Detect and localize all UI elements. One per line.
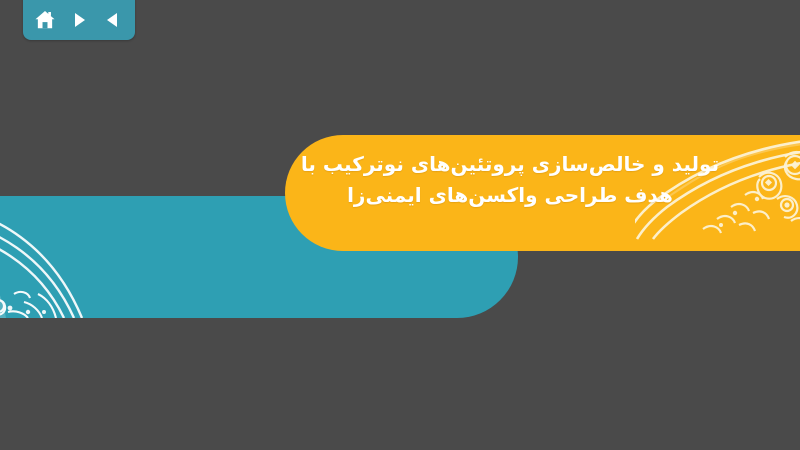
back-button[interactable]: [100, 7, 126, 33]
home-button[interactable]: [32, 7, 58, 33]
forward-button[interactable]: [66, 7, 92, 33]
title-line-2: هدف طراحی واکسن‌های ایمنی‌زا: [285, 180, 760, 211]
forward-icon: [69, 10, 89, 30]
yellow-banner: تولید و خالص‌سازی پروتئین‌های نوترکیب با…: [285, 135, 800, 251]
navigation-bar: [23, 0, 135, 40]
back-icon: [103, 10, 123, 30]
presentation-slide: تولید و خالص‌سازی پروتئین‌های نوترکیب با…: [0, 0, 800, 450]
home-icon: [34, 9, 56, 31]
slide-title: تولید و خالص‌سازی پروتئین‌های نوترکیب با…: [285, 149, 760, 211]
arabesque-ornament-teal: [0, 198, 150, 318]
title-line-1: تولید و خالص‌سازی پروتئین‌های نوترکیب با: [285, 149, 760, 180]
